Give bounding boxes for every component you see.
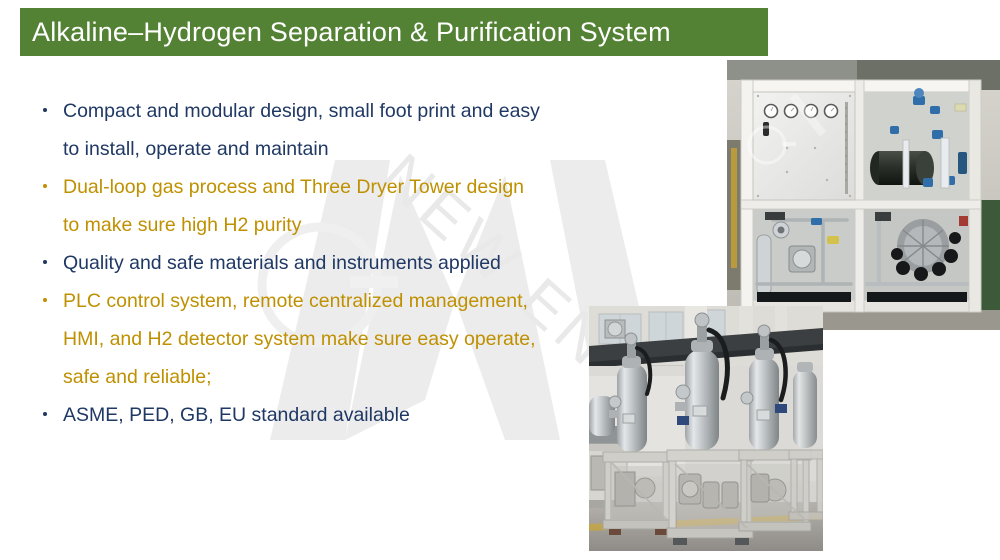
list-item: Quality and safe materials and instrumen… [38, 244, 618, 282]
slide-canvas: NEW ENERGY Alkaline–Hydrogen Separation … [0, 0, 1000, 560]
slide-title-bar: Alkaline–Hydrogen Separation & Purificat… [20, 8, 768, 56]
list-item-text: safe and reliable; [63, 358, 618, 396]
bullet-marker-icon [38, 398, 63, 436]
bullet-marker-icon [38, 94, 63, 132]
page-title: Alkaline–Hydrogen Separation & Purificat… [20, 17, 671, 48]
skid-front-illustration [727, 60, 1000, 330]
list-item: safe and reliable; [38, 358, 618, 396]
bullet-marker-icon [38, 284, 63, 322]
list-item: to make sure high H2 purity [38, 206, 618, 244]
dryer-tower-workshop-illustration [589, 306, 823, 551]
list-item: ASME, PED, GB, EU standard available [38, 396, 618, 434]
list-item: HMI, and H2 detector system make sure ea… [38, 320, 618, 358]
list-item-text: to make sure high H2 purity [63, 206, 618, 244]
product-photo-skid-front [727, 60, 1000, 330]
list-item-text: ASME, PED, GB, EU standard available [63, 396, 618, 434]
list-item: Dual-loop gas process and Three Dryer To… [38, 168, 618, 206]
list-item-text: Quality and safe materials and instrumen… [63, 244, 618, 282]
bullet-marker-icon [38, 246, 63, 284]
list-item-text: PLC control system, remote centralized m… [63, 282, 618, 320]
bullet-list: Compact and modular design, small foot p… [38, 92, 618, 434]
list-item-text: Dual-loop gas process and Three Dryer To… [63, 168, 618, 206]
list-item: to install, operate and maintain [38, 130, 618, 168]
list-item: PLC control system, remote centralized m… [38, 282, 618, 320]
list-item: Compact and modular design, small foot p… [38, 92, 618, 130]
product-photo-dryer-towers [589, 306, 823, 551]
list-item-text: Compact and modular design, small foot p… [63, 92, 618, 130]
list-item-text: to install, operate and maintain [63, 130, 618, 168]
list-item-text: HMI, and H2 detector system make sure ea… [63, 320, 618, 358]
bullet-marker-icon [38, 170, 63, 208]
